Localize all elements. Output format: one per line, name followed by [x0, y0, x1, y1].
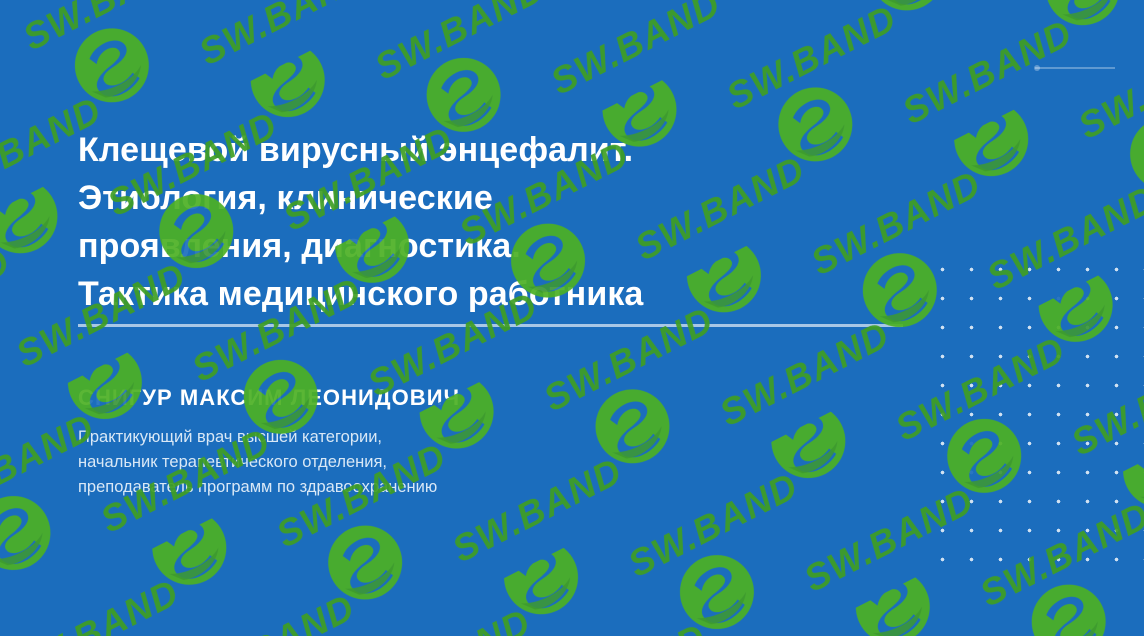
author-description: Практикующий врач высшей категории, нача…: [78, 425, 978, 500]
author-name: СНИГУР МАКСИМ ЛЕОНИДОВИЧ: [78, 385, 978, 411]
slide-content: Клещевой вирусный энцефалит. Этиология, …: [78, 126, 978, 500]
title-slide: Клещевой вирусный энцефалит. Этиология, …: [0, 0, 1144, 636]
page-title: Клещевой вирусный энцефалит. Этиология, …: [78, 126, 978, 318]
accent-line-decoration: [1035, 67, 1115, 69]
title-underline-rule: [78, 324, 903, 327]
author-block: СНИГУР МАКСИМ ЛЕОНИДОВИЧ Практикующий вр…: [78, 385, 978, 500]
